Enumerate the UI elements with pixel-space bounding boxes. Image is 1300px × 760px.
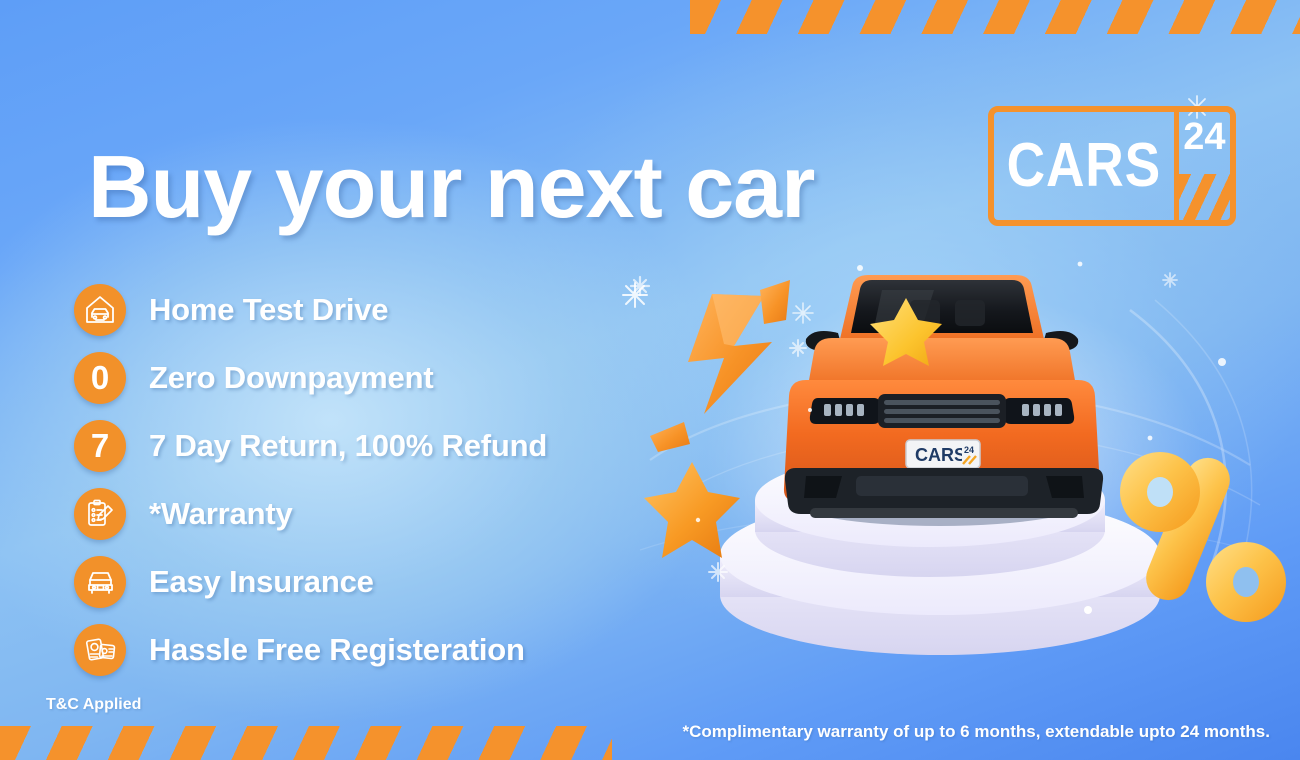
logo-brand-text: CARS [1007, 135, 1162, 197]
list-item[interactable]: *Warranty [74, 480, 547, 547]
list-item-label: Home Test Drive [149, 292, 388, 328]
home-car-icon [74, 284, 126, 336]
logo-main-panel: CARS [994, 112, 1179, 220]
list-item[interactable]: Home Test Drive [74, 276, 547, 343]
car-front-icon [74, 556, 126, 608]
disclaimer-text: *Complimentary warranty of up to 6 month… [682, 722, 1270, 742]
list-item-label: Hassle Free Registeration [149, 632, 525, 668]
list-item[interactable]: 0 Zero Downpayment [74, 344, 547, 411]
stripe-pattern-bottom [0, 726, 612, 760]
stripe-pattern-top [690, 0, 1300, 34]
svg-text:CARS: CARS [915, 445, 966, 465]
license-plate: CARS 24 [906, 440, 980, 468]
logo-stripes-icon [1179, 174, 1230, 220]
feature-list: Home Test Drive 0 Zero Downpayment 7 7 D… [74, 276, 547, 684]
zero-badge-icon: 0 [74, 352, 126, 404]
promo-banner: CARS 24 [0, 0, 1300, 760]
page-title: Buy your next car [88, 136, 814, 238]
documents-icon [74, 624, 126, 676]
terms-note: T&C Applied [46, 696, 141, 714]
snowflake-far-left [618, 278, 652, 312]
badge-value: 7 [91, 429, 109, 462]
list-item-label: 7 Day Return, 100% Refund [149, 428, 547, 464]
logo-side-panel: 24 [1179, 112, 1230, 220]
snowflake-upper-mid [790, 300, 816, 326]
list-item[interactable]: 7 7 Day Return, 100% Refund [74, 412, 547, 479]
list-item[interactable]: Easy Insurance [74, 548, 547, 615]
list-item-label: Zero Downpayment [149, 360, 433, 396]
clipboard-pen-icon [74, 488, 126, 540]
hero-artwork: CARS 24 [610, 250, 1300, 680]
list-item-label: Easy Insurance [149, 564, 374, 600]
badge-value: 0 [91, 361, 109, 394]
bolt-fragment-bottom [650, 422, 690, 452]
list-item-label: *Warranty [149, 496, 292, 532]
cars24-logo[interactable]: CARS 24 [988, 106, 1236, 226]
logo-brand-suffix: 24 [1179, 118, 1230, 156]
seven-badge-icon: 7 [74, 420, 126, 472]
bolt-fragment-top [760, 280, 790, 324]
list-item[interactable]: Hassle Free Registeration [74, 616, 547, 683]
svg-text:24: 24 [964, 445, 974, 455]
